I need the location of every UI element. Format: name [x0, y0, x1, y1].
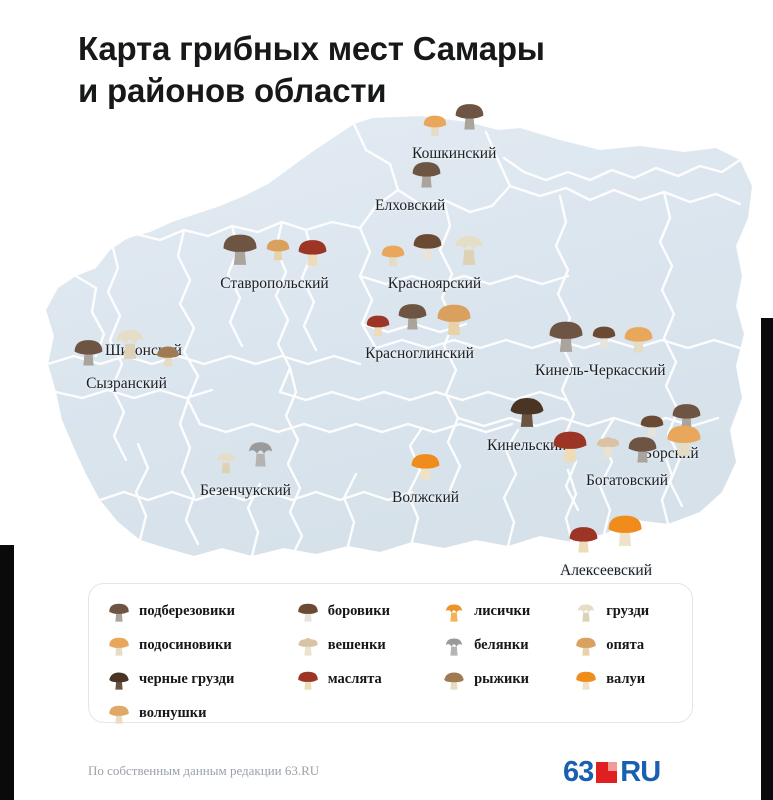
logo-suffix-text: RU [620, 758, 660, 787]
legend-column: лисичкибелянкирыжики [440, 598, 572, 712]
district-marker: Алексеевский [560, 505, 652, 580]
district-label: Елховский [375, 197, 445, 215]
district-mushroom-cluster [407, 432, 444, 488]
legend-column: груздиопятавалуи [572, 598, 676, 712]
district-marker: Богатовский [548, 415, 706, 490]
valui-icon [572, 666, 600, 692]
gruzdi-icon [211, 446, 241, 481]
brand-logo-63ru[interactable]: 63 RU [563, 757, 660, 787]
district-label: Кинель-Черкасский [535, 362, 666, 380]
legend-item-label: вешенки [328, 637, 386, 654]
ryzhiki-icon [440, 666, 468, 692]
legend-item-label: подосиновики [139, 637, 232, 654]
district-label: Ставропольский [220, 275, 328, 293]
chernye-gruzdi-icon [105, 666, 133, 692]
legend-column: подберезовикиподосиновикичерные груздиво… [105, 598, 294, 712]
district-marker: Елховский [375, 140, 445, 215]
legend-item-label: подберезовики [139, 603, 235, 620]
ryzhiki-icon [153, 339, 183, 374]
district-mushroom-cluster [378, 218, 491, 274]
district-label: Волжский [392, 489, 459, 507]
page-title-line-2: и районов области [78, 70, 638, 112]
podosinoviki-icon [105, 632, 133, 658]
legend-item-label: лисички [474, 603, 530, 620]
district-marker: Ставропольский [218, 218, 331, 293]
legend-column: боровикивешенкимаслята [294, 598, 440, 712]
district-label: Безенчукский [200, 482, 291, 500]
valui-icon [407, 446, 444, 488]
lisichki-icon [440, 598, 468, 624]
legend-item-label: валуи [606, 671, 645, 688]
maslyata-icon [294, 232, 331, 274]
district-mushroom-cluster [408, 140, 445, 196]
legend-item: черные грузди [105, 666, 294, 692]
page-title: Карта грибных мест Самары и районов обла… [78, 28, 638, 112]
podosinoviki-icon [620, 319, 657, 361]
podberezoviki-icon [394, 296, 431, 338]
maslyata-icon [548, 422, 592, 471]
district-label: Красноглинский [365, 345, 474, 363]
district-mushroom-cluster [544, 305, 657, 361]
openki-icon [572, 632, 600, 658]
legend-item: грузди [572, 598, 676, 624]
page-title-line-1: Карта грибных мест Самары [78, 28, 638, 70]
legend-item-label: рыжики [474, 671, 529, 688]
legend-panel: подберезовикиподосиновикичерные груздиво… [88, 583, 693, 723]
gruzdi-icon [108, 319, 152, 368]
maslyata-icon [565, 519, 602, 561]
legend-item: валуи [572, 666, 676, 692]
district-mushroom-cluster [565, 505, 647, 561]
legend-item-label: боровики [328, 603, 390, 620]
belyanki-icon [242, 433, 279, 475]
legend-item: подосиновики [105, 632, 294, 658]
district-mushroom-cluster [363, 288, 476, 344]
legend-item: вешенки [294, 632, 440, 658]
infographic-root: Карта грибных мест Самары и районов обла… [0, 0, 773, 800]
borroviki-icon [589, 320, 619, 355]
legend-item-label: черные грузди [139, 671, 234, 688]
district-mushroom-cluster [211, 425, 279, 481]
district-marker: Красноярский [378, 218, 491, 293]
district-mushroom-cluster [218, 218, 331, 274]
legend-item-label: грузди [606, 603, 649, 620]
legend-item-label: маслята [328, 671, 382, 688]
openki-icon [263, 233, 293, 268]
borroviki-icon [409, 226, 446, 268]
maslyata-icon [294, 666, 322, 692]
logo-prefix-text: 63 [563, 758, 593, 787]
legend-item-label: опята [606, 637, 644, 654]
district-label: Сызранский [86, 375, 167, 393]
podosinoviki-icon [662, 416, 706, 465]
podberezoviki-icon [70, 332, 107, 374]
letterbox-left [0, 545, 14, 800]
district-marker: Красноглинский [363, 288, 476, 363]
district-label: Алексеевский [560, 562, 652, 580]
legend-item-label: белянки [474, 637, 529, 654]
gruzdi-icon [572, 598, 600, 624]
podberezoviki-icon [408, 154, 445, 196]
belyanki-icon [440, 632, 468, 658]
podberezoviki-icon [218, 225, 262, 274]
podberezoviki-icon [544, 312, 588, 361]
maslyata-icon [363, 309, 393, 344]
veshenki-icon [593, 430, 623, 465]
legend-item: опята [572, 632, 676, 658]
district-marker: Безенчукский [200, 425, 291, 500]
legend-item: рыжики [440, 666, 572, 692]
district-label: Богатовский [586, 472, 668, 490]
legend-item: подберезовики [105, 598, 294, 624]
district-mushroom-cluster [548, 415, 706, 471]
footer-source-note: По собственным данным редакции 63.RU [88, 763, 319, 779]
logo-red-square-icon [596, 762, 617, 783]
podberezoviki-icon [624, 429, 661, 471]
legend-item: лисички [440, 598, 572, 624]
district-marker: Волжский [392, 432, 459, 507]
gruzdi-icon [447, 225, 491, 274]
volnushki-icon [105, 700, 133, 726]
district-mushroom-cluster [70, 318, 183, 374]
legend-item: маслята [294, 666, 440, 692]
borroviki-icon [294, 598, 322, 624]
legend-item: боровики [294, 598, 440, 624]
district-mushroom-cluster [505, 380, 549, 436]
legend-item: волнушки [105, 700, 294, 726]
podberezoviki-icon [105, 598, 133, 624]
legend-item: белянки [440, 632, 572, 658]
district-marker: Кинель-Черкасский [535, 305, 666, 380]
podosinoviki-icon [378, 239, 408, 274]
podosinoviki-icon [420, 109, 450, 144]
legend-item-label: волнушки [139, 705, 206, 722]
district-marker: Сызранский [70, 318, 183, 393]
valui-icon [603, 506, 647, 555]
letterbox-right [761, 318, 773, 800]
veshenki-icon [294, 632, 322, 658]
chernye-gruzdi-icon [505, 387, 549, 436]
openki-icon [432, 295, 476, 344]
